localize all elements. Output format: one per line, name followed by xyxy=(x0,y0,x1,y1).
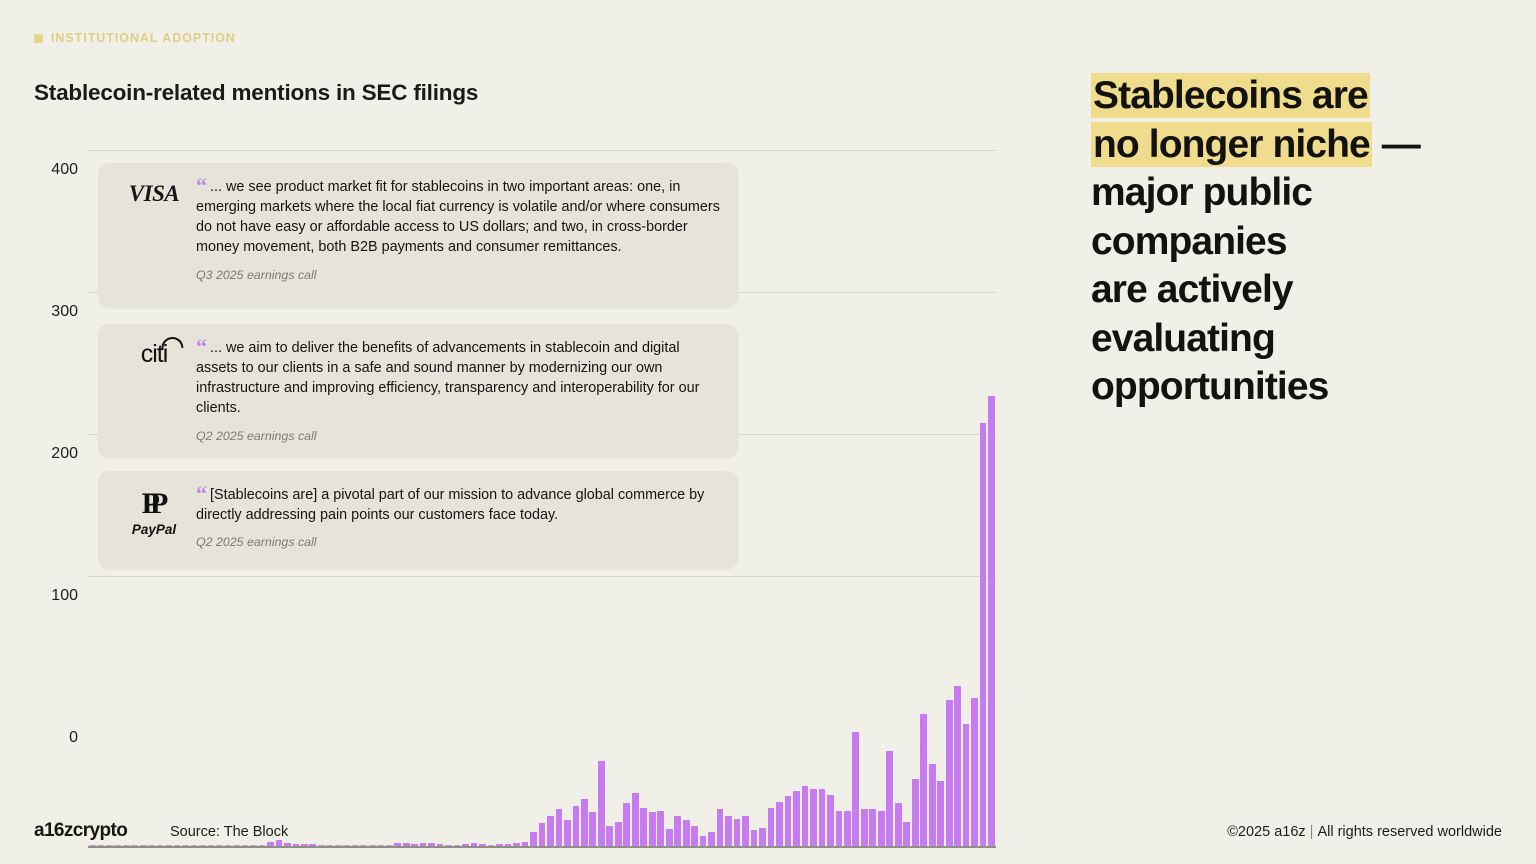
headline-line-4: companies xyxy=(1091,218,1491,267)
bar xyxy=(259,845,266,847)
bar xyxy=(471,843,478,846)
eyebrow-label: INSTITUTIONAL ADOPTION xyxy=(51,31,236,45)
bar xyxy=(691,826,698,846)
bar xyxy=(980,423,987,846)
bar xyxy=(802,786,809,846)
paypal-logo-icon: PP PayPal xyxy=(112,485,196,557)
quote-text: ... we see product market fit for stable… xyxy=(196,179,720,255)
quote-mark-icon: “ xyxy=(196,173,207,198)
quote-source: Q2 2025 earnings call xyxy=(196,535,720,549)
bar xyxy=(827,795,834,846)
bar xyxy=(369,845,376,847)
bar xyxy=(776,802,783,846)
quote-text: [Stablecoins are] a pivotal part of our … xyxy=(196,487,704,523)
headline-line-2: no longer niche — xyxy=(1091,121,1491,170)
bar xyxy=(819,789,826,846)
bar xyxy=(666,829,673,846)
page-title: Stablecoin-related mentions in SEC filin… xyxy=(34,80,478,106)
bar xyxy=(174,845,181,847)
bar xyxy=(479,844,486,846)
bar xyxy=(725,816,732,846)
quote-text-wrap: “... we aim to deliver the benefits of a… xyxy=(196,338,720,419)
bar xyxy=(895,803,902,846)
bar xyxy=(632,793,639,846)
headline-dash: — xyxy=(1372,123,1420,166)
bar xyxy=(386,845,393,847)
bar xyxy=(301,844,308,846)
bar xyxy=(700,836,707,846)
bar xyxy=(878,811,885,847)
copyright-separator: | xyxy=(1310,824,1314,840)
bar xyxy=(615,822,622,846)
bar xyxy=(852,732,859,846)
bar xyxy=(861,809,868,846)
copyright: ©2025 a16z|All rights reserved worldwide xyxy=(1227,824,1502,840)
bar xyxy=(649,812,656,846)
bar xyxy=(488,845,495,847)
bar xyxy=(742,816,749,846)
bar xyxy=(284,843,291,846)
y-axis: 400 300 200 100 0 xyxy=(10,150,78,848)
quote-mark-icon: “ xyxy=(196,334,207,359)
source-label: Source: The Block xyxy=(170,824,288,840)
bar xyxy=(165,845,172,847)
headline: Stablecoins are no longer niche — major … xyxy=(1091,72,1491,412)
headline-line-5: are actively xyxy=(1091,266,1491,315)
bar xyxy=(581,799,588,846)
bar xyxy=(674,816,681,846)
bar xyxy=(539,823,546,846)
bar xyxy=(657,811,664,847)
bar xyxy=(157,845,164,847)
bar xyxy=(394,843,401,846)
paypal-p-mark-icon: PP xyxy=(124,489,176,519)
quote-body: “... we aim to deliver the benefits of a… xyxy=(196,338,720,446)
bar xyxy=(182,845,189,847)
quote-card-visa: VISA “... we see product market fit for … xyxy=(98,163,738,308)
bar xyxy=(522,842,529,846)
bar xyxy=(751,830,758,846)
bar xyxy=(140,845,147,847)
bar xyxy=(623,803,630,846)
citi-wordmark: citi xyxy=(141,342,168,367)
bar xyxy=(717,809,724,846)
bar xyxy=(462,844,469,846)
bar xyxy=(360,845,367,847)
bar xyxy=(318,845,325,847)
bar xyxy=(114,845,121,847)
infographic-page: INSTITUTIONAL ADOPTION Stablecoin-relate… xyxy=(0,0,1536,864)
quote-text: ... we aim to deliver the benefits of ad… xyxy=(196,340,699,416)
paypal-wordmark-text: PayPal xyxy=(132,523,176,537)
bar xyxy=(598,761,605,846)
bar xyxy=(454,845,461,847)
y-tick-100: 100 xyxy=(18,587,78,605)
bar xyxy=(131,845,138,847)
bar xyxy=(242,845,249,847)
x-axis-line xyxy=(88,846,996,848)
headline-line-1: Stablecoins are xyxy=(1091,72,1491,121)
copyright-suffix: All rights reserved worldwide xyxy=(1317,824,1502,840)
citi-logo-icon: citi xyxy=(112,338,196,446)
bar xyxy=(556,809,563,846)
quote-source: Q3 2025 earnings call xyxy=(196,268,720,282)
bar xyxy=(768,808,775,846)
bar xyxy=(233,845,240,847)
quote-card-citi: citi “... we aim to deliver the benefits… xyxy=(98,324,738,458)
bar xyxy=(437,844,444,846)
bar xyxy=(411,844,418,846)
quote-text-wrap: “[Stablecoins are] a pivotal part of our… xyxy=(196,485,720,525)
citi-arc-icon xyxy=(160,336,183,350)
bar xyxy=(886,751,893,846)
bar xyxy=(191,845,198,847)
bar xyxy=(903,822,910,846)
headline-line-7: opportunities xyxy=(1091,363,1491,412)
bar xyxy=(123,845,130,847)
a16zcrypto-logo: a16zcrypto xyxy=(34,820,127,842)
bar xyxy=(564,820,571,846)
bar xyxy=(573,806,580,846)
headline-line-3: major public xyxy=(1091,169,1491,218)
bar xyxy=(377,845,384,847)
bar xyxy=(445,845,452,847)
bar xyxy=(428,843,435,846)
bar xyxy=(420,843,427,846)
quote-mark-icon: “ xyxy=(196,481,207,506)
bar xyxy=(836,811,843,847)
bar xyxy=(335,845,342,847)
bar xyxy=(844,811,851,847)
bar xyxy=(106,845,113,847)
bar xyxy=(496,844,503,846)
bar xyxy=(505,844,512,846)
bar xyxy=(683,820,690,846)
bar xyxy=(734,819,741,846)
quote-card-paypal: PP PayPal “[Stablecoins are] a pivotal p… xyxy=(98,471,738,569)
bar xyxy=(920,714,927,846)
quote-text-wrap: “... we see product market fit for stabl… xyxy=(196,177,720,258)
visa-logo-icon: VISA xyxy=(112,177,196,296)
bar xyxy=(954,686,961,846)
bar xyxy=(250,845,257,847)
bar xyxy=(988,396,995,846)
bar xyxy=(785,796,792,846)
bar xyxy=(343,845,350,847)
bar xyxy=(403,843,410,846)
bar xyxy=(759,828,766,846)
bar xyxy=(912,779,919,846)
paypal-wordmark: PP PayPal xyxy=(132,489,176,537)
bar xyxy=(869,809,876,846)
bar xyxy=(929,764,936,846)
y-tick-300: 300 xyxy=(18,303,78,321)
bar xyxy=(513,843,520,846)
quote-body: “... we see product market fit for stabl… xyxy=(196,177,720,296)
y-tick-400: 400 xyxy=(18,161,78,179)
eyebrow-bullet-icon xyxy=(34,34,43,43)
bar xyxy=(708,832,715,846)
eyebrow: INSTITUTIONAL ADOPTION xyxy=(34,31,236,45)
headline-highlight-2: no longer niche xyxy=(1091,122,1372,167)
quote-body: “[Stablecoins are] a pivotal part of our… xyxy=(196,485,720,557)
bar xyxy=(89,845,96,847)
bar xyxy=(148,845,155,847)
bar xyxy=(293,844,300,846)
headline-highlight-1: Stablecoins are xyxy=(1091,73,1370,118)
bar xyxy=(276,840,283,846)
bar xyxy=(589,812,596,846)
bar xyxy=(97,845,104,847)
quote-source: Q2 2025 earnings call xyxy=(196,429,720,443)
copyright-prefix: ©2025 a16z xyxy=(1227,824,1305,840)
bar xyxy=(640,808,647,846)
y-tick-0: 0 xyxy=(18,729,78,747)
bar xyxy=(971,698,978,846)
bar xyxy=(937,781,944,846)
bar xyxy=(606,826,613,846)
bar xyxy=(216,845,223,847)
bar xyxy=(199,845,206,847)
visa-wordmark: VISA xyxy=(129,181,179,207)
bar xyxy=(309,844,316,846)
bar xyxy=(810,789,817,846)
bar xyxy=(963,724,970,846)
bar xyxy=(352,845,359,847)
bar xyxy=(547,816,554,846)
bar xyxy=(946,700,953,846)
bar xyxy=(267,842,274,846)
y-tick-200: 200 xyxy=(18,445,78,463)
bar xyxy=(208,845,215,847)
headline-line-6: evaluating xyxy=(1091,315,1491,364)
bar xyxy=(225,845,232,847)
bar xyxy=(530,832,537,846)
bar xyxy=(793,791,800,846)
bar xyxy=(326,845,333,847)
